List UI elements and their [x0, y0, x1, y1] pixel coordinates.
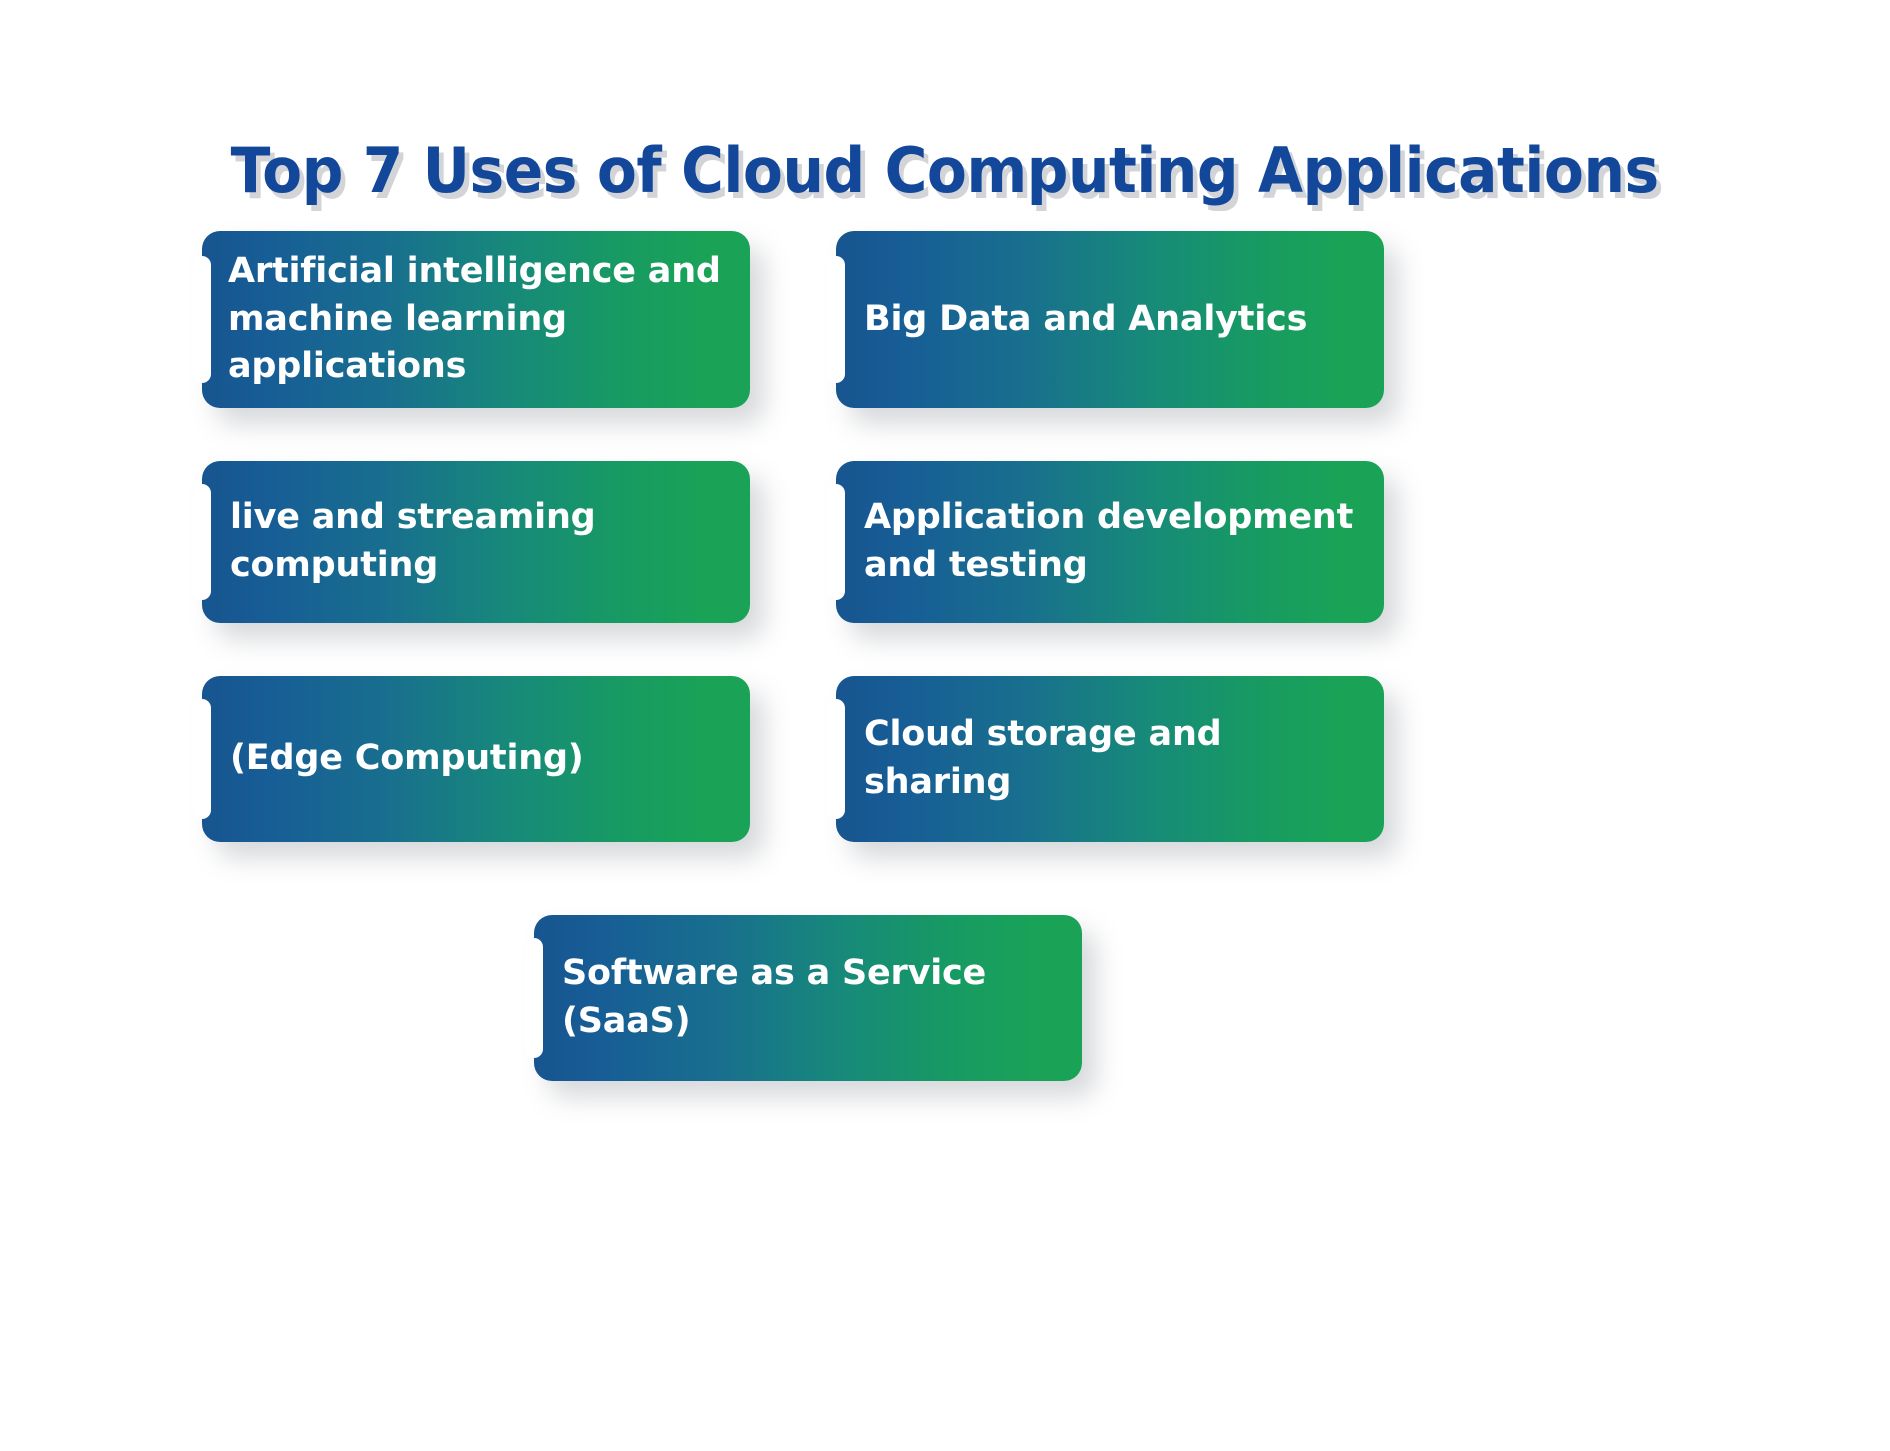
card-label: Software as a Service (SaaS): [534, 950, 1082, 1045]
card-label: (Edge Computing): [202, 735, 604, 783]
card-big-data-and-analytics[interactable]: Big Data and Analytics: [836, 231, 1384, 408]
card-application-development-and-testing[interactable]: Application development and testing: [836, 461, 1384, 623]
card-live-and-streaming-computing[interactable]: live and streaming computing: [202, 461, 750, 623]
card-edge-computing[interactable]: (Edge Computing): [202, 676, 750, 842]
card-software-as-a-service-saas[interactable]: Software as a Service (SaaS): [534, 915, 1082, 1081]
card-label: Big Data and Analytics: [836, 296, 1327, 344]
card-artificial-intelligence-and-machine-learning-applications[interactable]: Artificial intelligence and machine lear…: [202, 231, 750, 408]
card-label: Application development and testing: [836, 494, 1373, 589]
card-label: Artificial intelligence and machine lear…: [202, 248, 741, 391]
card-label: live and streaming computing: [202, 494, 616, 589]
cards-board: Artificial intelligence and machine lear…: [0, 0, 1890, 1451]
card-label: Cloud storage and sharing: [836, 711, 1384, 806]
card-cloud-storage-and-sharing[interactable]: Cloud storage and sharing: [836, 676, 1384, 842]
